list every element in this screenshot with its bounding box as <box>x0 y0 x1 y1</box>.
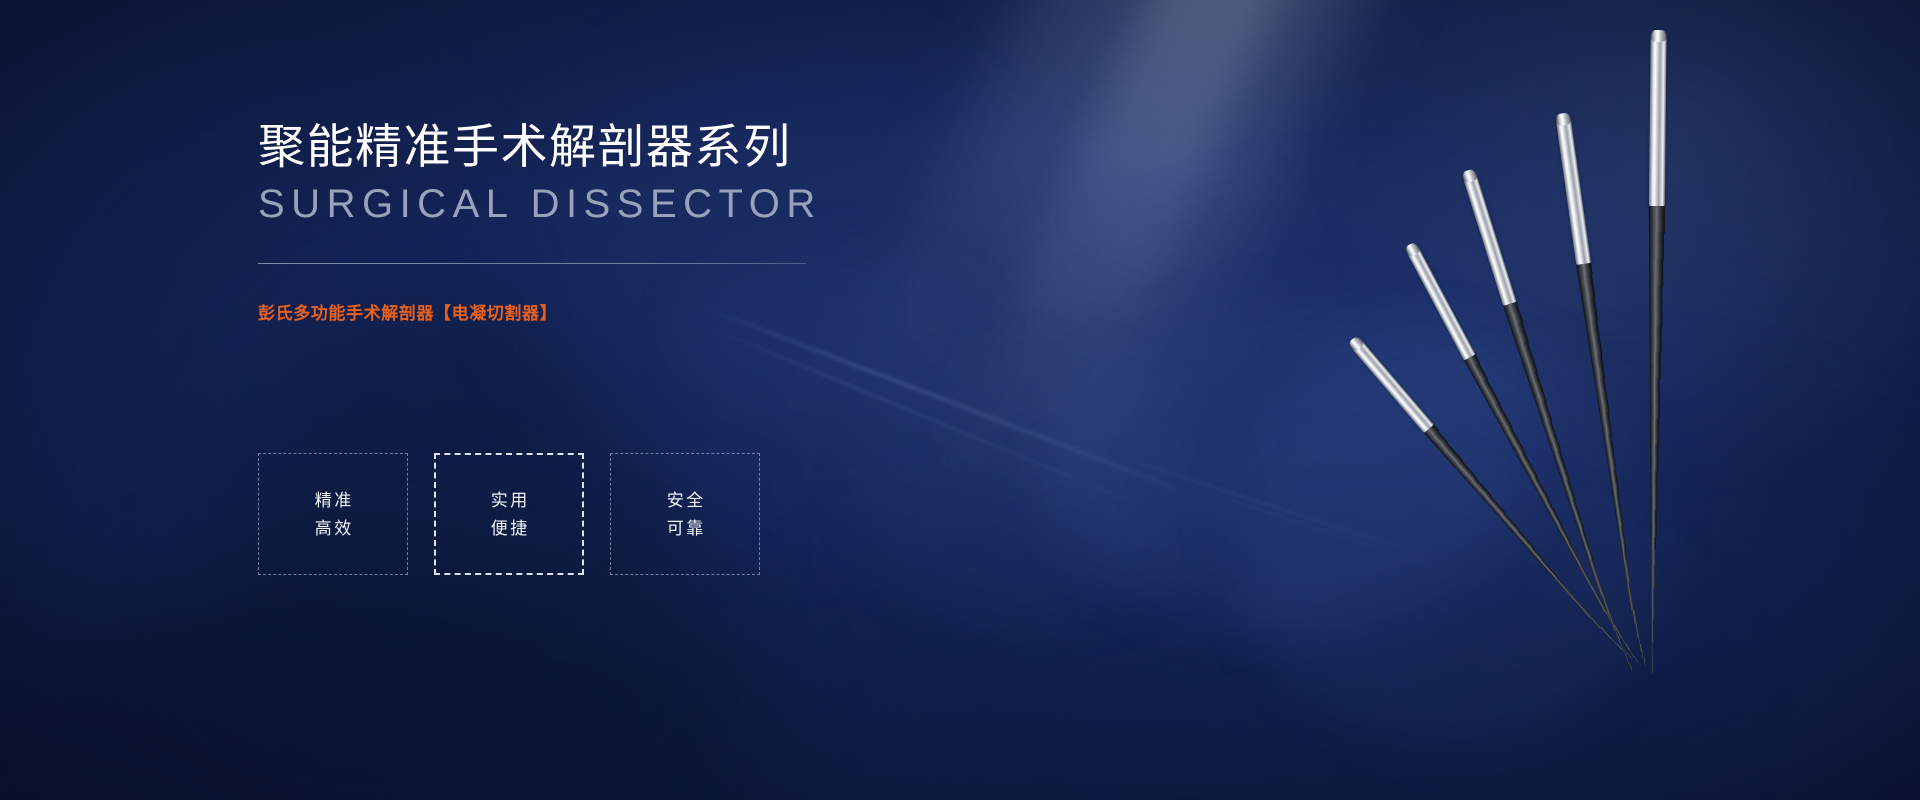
product-hero-banner: 聚能精准手术解剖器系列 SURGICAL DISSECTOR 彭氏多功能手术解剖… <box>0 0 1920 800</box>
feature-badge: 安全可靠 <box>610 453 760 575</box>
feature-badge-group: 精准高效实用便捷安全可靠 <box>258 453 760 575</box>
feature-badge-text: 高效 <box>312 520 354 537</box>
feature-badge-text: 精准 <box>312 492 354 509</box>
banner-title-cn: 聚能精准手术解剖器系列 <box>258 118 898 175</box>
product-name-label: 彭氏多功能手术解剖器【电凝切割器】 <box>258 302 898 326</box>
banner-title-en: SURGICAL DISSECTOR <box>258 181 898 227</box>
feature-badge: 实用便捷 <box>434 453 584 575</box>
banner-text-block: 聚能精准手术解剖器系列 SURGICAL DISSECTOR 彭氏多功能手术解剖… <box>258 118 898 326</box>
title-divider <box>258 263 806 264</box>
feature-badge: 精准高效 <box>258 453 408 575</box>
feature-badge-text: 实用 <box>488 492 530 509</box>
feature-badge-text: 便捷 <box>488 520 530 537</box>
feature-badge-text: 可靠 <box>664 520 706 537</box>
feature-badge-text: 安全 <box>664 492 706 509</box>
